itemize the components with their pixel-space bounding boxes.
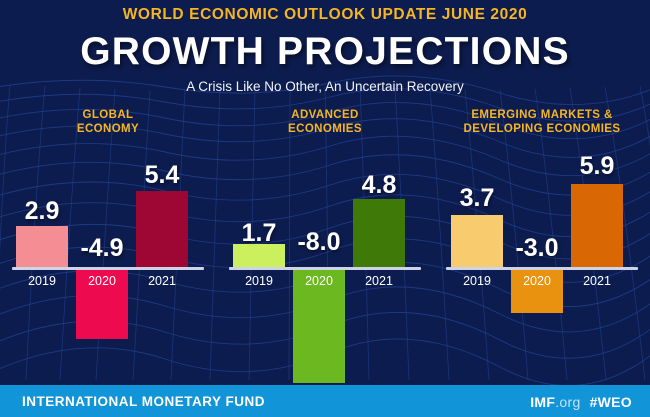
bar-value-label: 4.8: [334, 173, 424, 198]
bar-year-label: 2021: [562, 275, 632, 288]
footer-organization-label: INTERNATIONAL MONETARY FUND: [22, 394, 265, 409]
bar-value-label: -3.0: [492, 236, 582, 261]
bar-value-label: 3.7: [432, 186, 522, 211]
bar-value-label: -4.9: [57, 236, 147, 261]
chart-group-emerging-markets: EMERGING MARKETS & DEVELOPING ECONOMIES …: [434, 108, 650, 390]
group-title-advanced-economies: ADVANCED ECONOMIES: [217, 108, 433, 137]
subtitle-text: A Crisis Like No Other, An Uncertain Rec…: [0, 80, 650, 94]
header: WORLD ECONOMIC OUTLOOK UPDATE JUNE 2020 …: [0, 0, 650, 93]
bar-value-label: -8.0: [274, 230, 364, 255]
chart-groups: GLOBAL ECONOMY 2.9 2019 -4.9 2020 5.4 20…: [0, 108, 650, 390]
plot-area-advanced-economies: 1.7 2019 -8.0 2020 4.8 2021: [217, 148, 433, 390]
imf-site-suffix[interactable]: .org: [555, 394, 580, 410]
chart-group-global-economy: GLOBAL ECONOMY 2.9 2019 -4.9 2020 5.4 20…: [0, 108, 216, 390]
bar-value-label: 2.9: [0, 199, 87, 224]
group-title-line: ADVANCED: [217, 108, 433, 122]
group-title-line: EMERGING MARKETS &: [434, 108, 650, 122]
bar-value-label: 5.4: [117, 163, 207, 188]
weo-hashtag[interactable]: #WEO: [590, 394, 632, 410]
bar-emerging-2021: [571, 184, 623, 267]
bar-year-label: 2021: [127, 275, 197, 288]
bar-year-label: 2021: [344, 275, 414, 288]
group-title-line: GLOBAL: [0, 108, 216, 122]
group-title-emerging-markets: EMERGING MARKETS & DEVELOPING ECONOMIES: [434, 108, 650, 137]
plot-area-emerging-markets: 3.7 2019 -3.0 2020 5.9 2021: [434, 148, 650, 390]
footer-bar: INTERNATIONAL MONETARY FUND IMF.org#WEO: [0, 385, 650, 417]
group-title-line: DEVELOPING ECONOMIES: [434, 122, 650, 136]
footer-links: IMF.org#WEO: [530, 394, 632, 410]
bar-value-label: 5.9: [552, 154, 642, 179]
group-title-global-economy: GLOBAL ECONOMY: [0, 108, 216, 137]
kicker-text: WORLD ECONOMIC OUTLOOK UPDATE JUNE 2020: [0, 7, 650, 23]
group-title-line: ECONOMIES: [217, 122, 433, 136]
imf-site-bold[interactable]: IMF: [530, 394, 555, 410]
group-title-line: ECONOMY: [0, 122, 216, 136]
chart-group-advanced-economies: ADVANCED ECONOMIES 1.7 2019 -8.0 2020 4.…: [217, 108, 433, 390]
plot-area-global-economy: 2.9 2019 -4.9 2020 5.4 2021: [0, 148, 216, 390]
bar-advanced-2021: [353, 199, 405, 267]
page-title: GROWTH PROJECTIONS: [0, 32, 650, 71]
infographic-canvas: WORLD ECONOMIC OUTLOOK UPDATE JUNE 2020 …: [0, 0, 650, 417]
bar-global-2021: [136, 191, 188, 267]
